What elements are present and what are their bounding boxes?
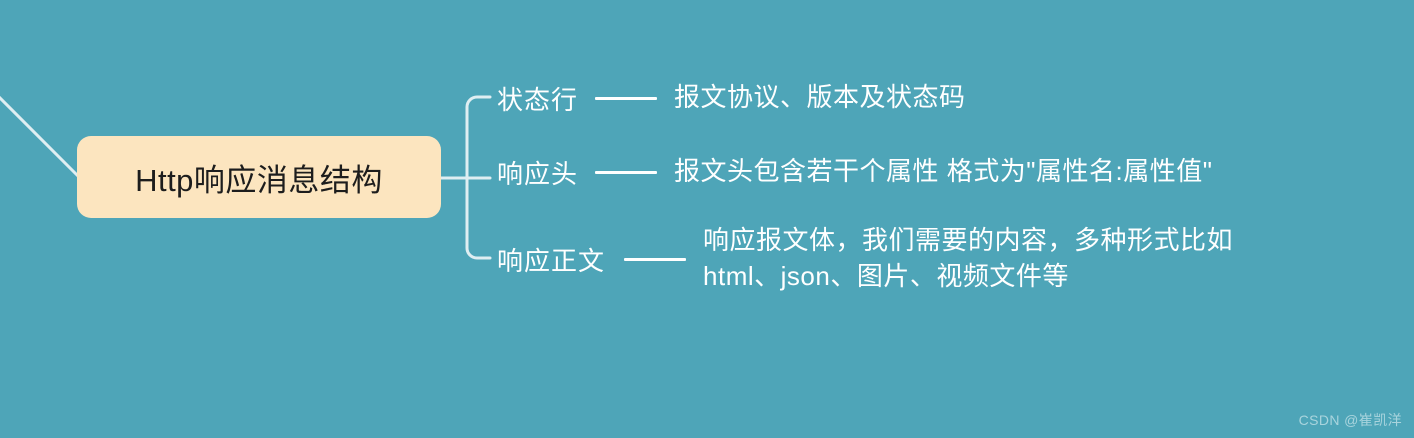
branch-status-line[interactable]: 状态行 报文协议、版本及状态码: [497, 79, 966, 117]
branch-separator-dash: [595, 171, 657, 174]
branch-label: 响应正文: [497, 241, 605, 278]
branch-label: 响应头: [497, 154, 578, 191]
root-node-label: Http响应消息结构: [135, 155, 383, 200]
branch-response-body[interactable]: 响应正文 响应报文体，我们需要的内容，多种形式比如 html、json、图片、视…: [497, 222, 1233, 296]
connector-lines: [0, 0, 1414, 438]
parent-connector-line: [0, 92, 80, 178]
branch-separator-dash: [595, 97, 657, 100]
mindmap-canvas: Http响应消息结构 状态行 报文协议、版本及状态码 响应头 报文头包含若干个属…: [0, 0, 1414, 438]
branch-response-header[interactable]: 响应头 报文头包含若干个属性 格式为"属性名:属性值": [497, 153, 1212, 191]
branch-description: 报文协议、版本及状态码: [674, 80, 966, 116]
watermark: CSDN @崔凯洋: [1299, 410, 1402, 430]
branch-separator-dash: [624, 258, 686, 261]
branch-description: 报文头包含若干个属性 格式为"属性名:属性值": [674, 154, 1212, 190]
branch-description: 响应报文体，我们需要的内容，多种形式比如 html、json、图片、视频文件等: [703, 223, 1233, 295]
branch-spine: [467, 97, 490, 258]
root-node[interactable]: Http响应消息结构: [77, 136, 441, 218]
branch-label: 状态行: [497, 80, 578, 117]
